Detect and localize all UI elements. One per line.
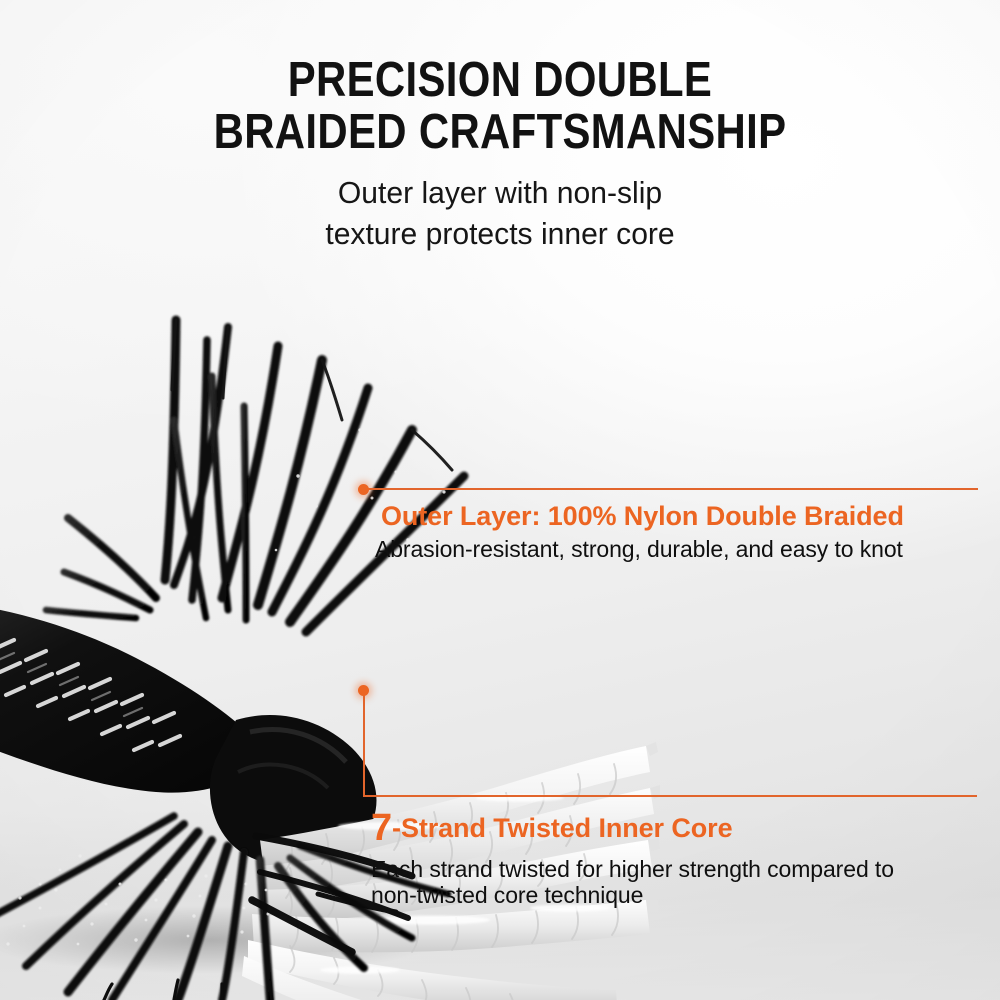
callout-inner-core-dot xyxy=(358,685,369,696)
page-title: PRECISION DOUBLE BRAIDED CRAFTSMANSHIP xyxy=(0,54,1000,158)
callout-outer-layer-heading: Outer Layer: 100% Nylon Double Braided xyxy=(381,500,904,532)
callout-outer-layer-leader-line xyxy=(363,488,978,490)
callout-outer-layer-dot xyxy=(358,484,369,495)
callout-inner-core-description-line-2: non-twisted core technique xyxy=(371,881,643,909)
subtitle-line-1: Outer layer with non-slip xyxy=(15,172,985,213)
title-line-2: BRAIDED CRAFTSMANSHIP xyxy=(73,106,928,158)
callout-inner-core-description-line-1: Each strand twisted for higher strength … xyxy=(371,855,894,883)
callout-inner-core-leader-vertical xyxy=(363,690,365,797)
page-subtitle: Outer layer with non-slip texture protec… xyxy=(0,172,1000,254)
subtitle-line-2: texture protects inner core xyxy=(15,213,985,254)
infographic-canvas: PRECISION DOUBLE BRAIDED CRAFTSMANSHIP O… xyxy=(0,0,1000,1000)
callout-inner-core-heading: 7-Strand Twisted Inner Core xyxy=(371,812,732,844)
callout-inner-core-heading-rest: -Strand Twisted Inner Core xyxy=(392,813,732,843)
callout-outer-layer-description: Abrasion-resistant, strong, durable, and… xyxy=(375,535,903,563)
callout-inner-core-strand-count: 7 xyxy=(371,807,392,849)
title-line-1: PRECISION DOUBLE xyxy=(73,54,928,106)
callout-inner-core-leader-horizontal xyxy=(363,795,977,797)
header-block: PRECISION DOUBLE BRAIDED CRAFTSMANSHIP O… xyxy=(0,54,1000,254)
